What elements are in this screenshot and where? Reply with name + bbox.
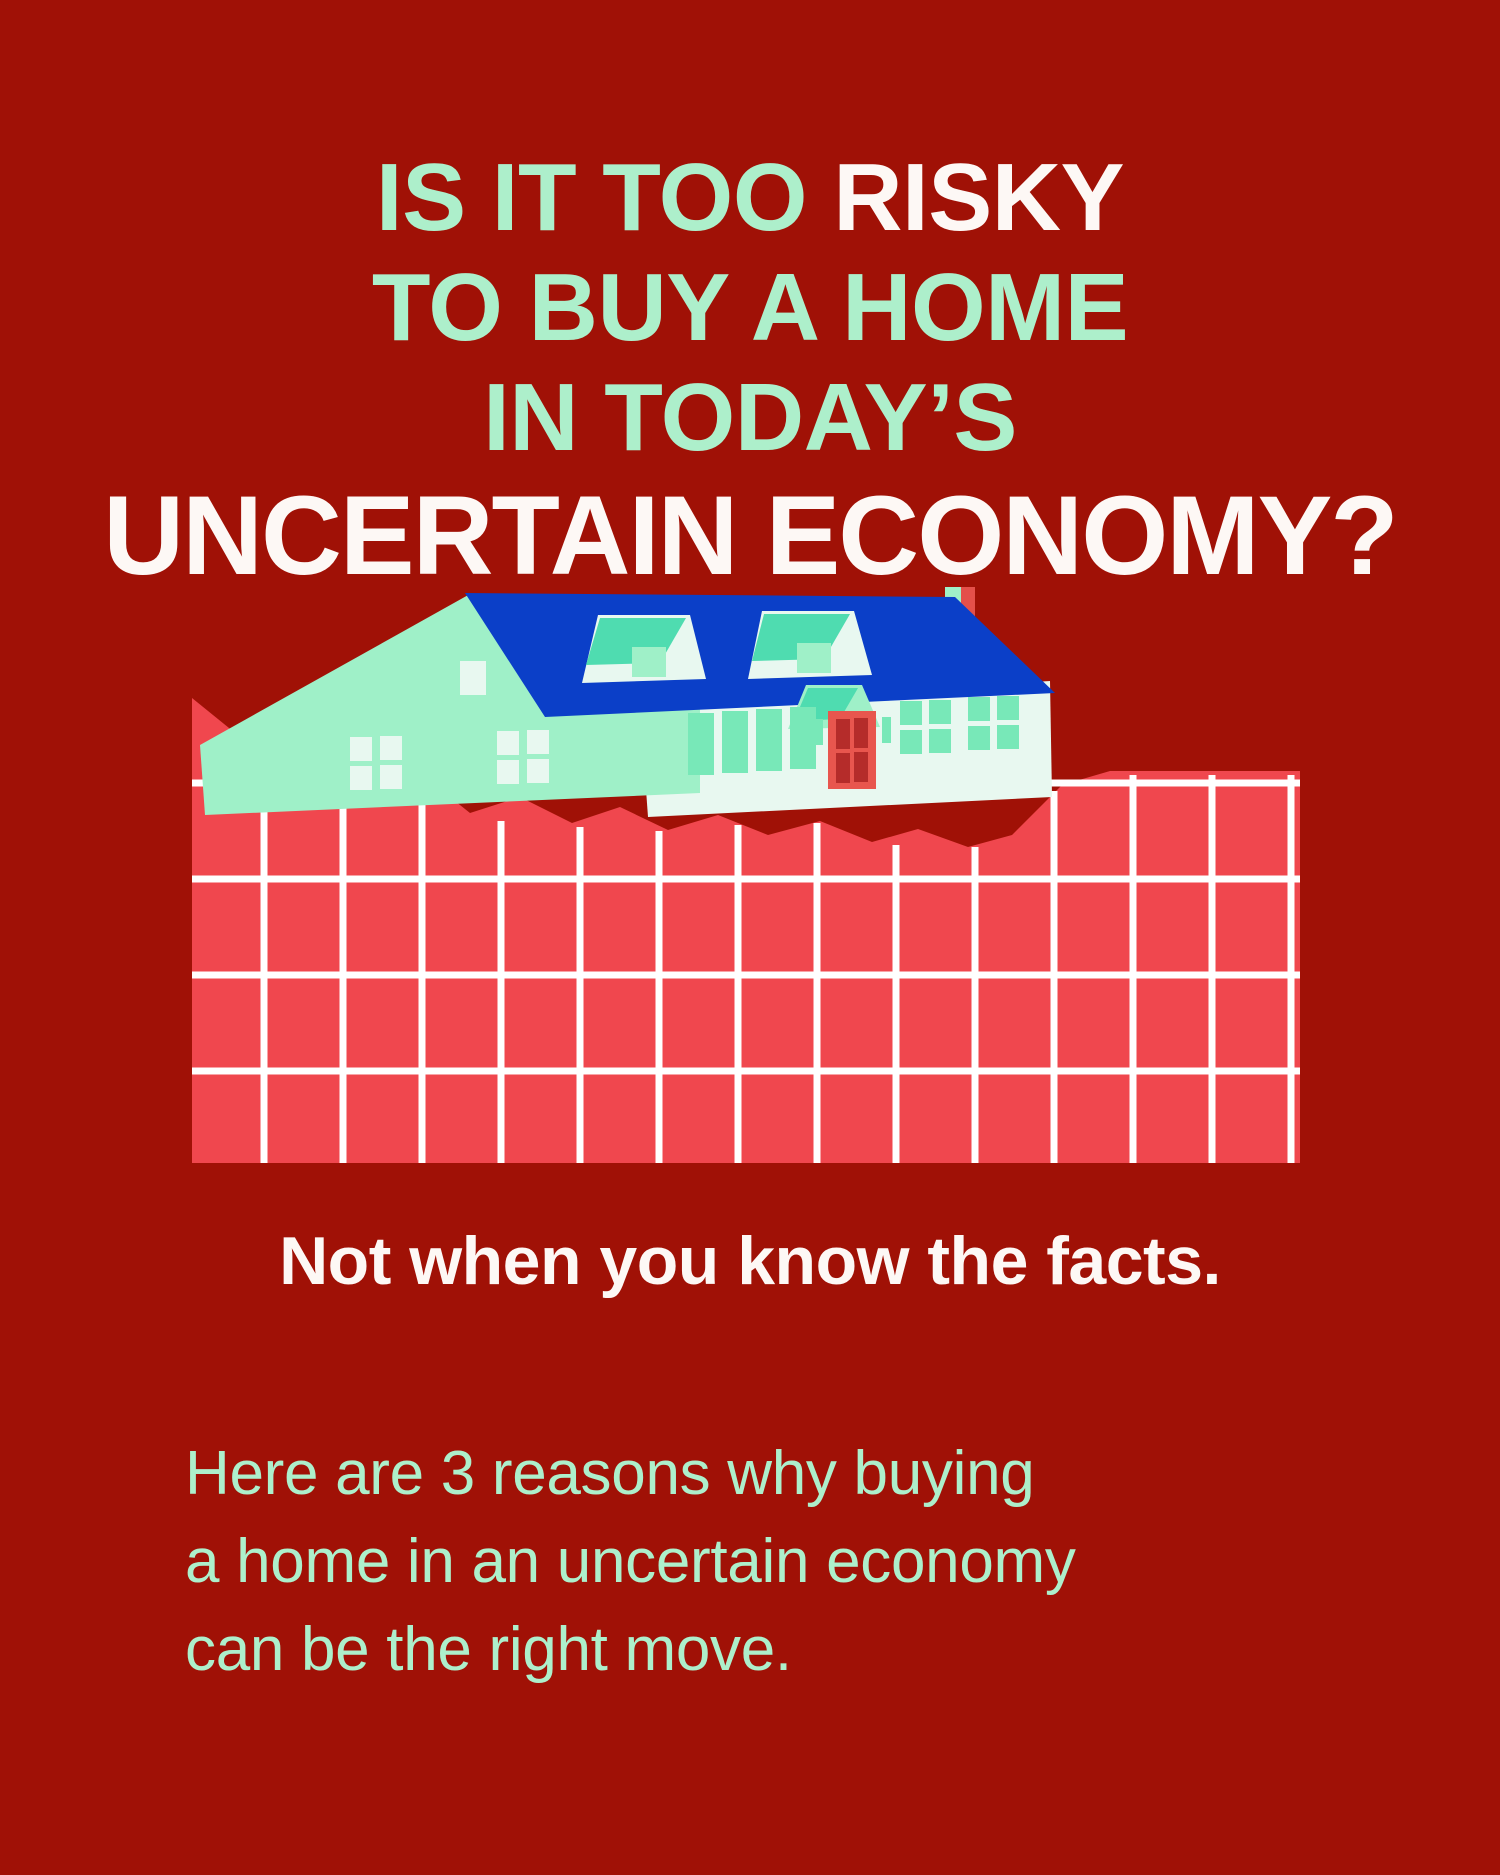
page-title: IS IT TOO RISKY TO BUY A HOME IN TODAY’S… bbox=[0, 150, 1500, 592]
house-front-door bbox=[828, 711, 876, 789]
house-illustration bbox=[200, 587, 1055, 817]
headline-line-1: IS IT TOO RISKY bbox=[0, 150, 1500, 246]
headline-line-1-white: RISKY bbox=[833, 144, 1124, 251]
body-line-3: can be the right move. bbox=[185, 1606, 1365, 1694]
house-dormer-right bbox=[748, 611, 872, 679]
headline-line-1-mint: IS IT TOO bbox=[376, 144, 833, 251]
house-door-sidelight-left bbox=[814, 719, 823, 745]
body-line-2: a home in an uncertain economy bbox=[185, 1518, 1365, 1606]
house-dormer-left bbox=[582, 615, 706, 683]
house-attic-window bbox=[460, 661, 486, 695]
headline-line-4: UNCERTAIN ECONOMY? bbox=[0, 480, 1500, 592]
poster-canvas: IS IT TOO RISKY TO BUY A HOME IN TODAY’S… bbox=[0, 0, 1500, 1875]
body-line-1: Here are 3 reasons why buying bbox=[185, 1430, 1365, 1518]
subtitle: Not when you know the facts. bbox=[0, 1222, 1500, 1300]
house-door-sidelight-right bbox=[882, 717, 891, 743]
illustration-svg bbox=[0, 585, 1500, 1175]
headline-line-2: TO BUY A HOME bbox=[0, 260, 1500, 356]
body-paragraph: Here are 3 reasons why buying a home in … bbox=[185, 1430, 1365, 1694]
headline-line-3: IN TODAY’S bbox=[0, 370, 1500, 466]
illustration-block bbox=[0, 585, 1500, 1175]
